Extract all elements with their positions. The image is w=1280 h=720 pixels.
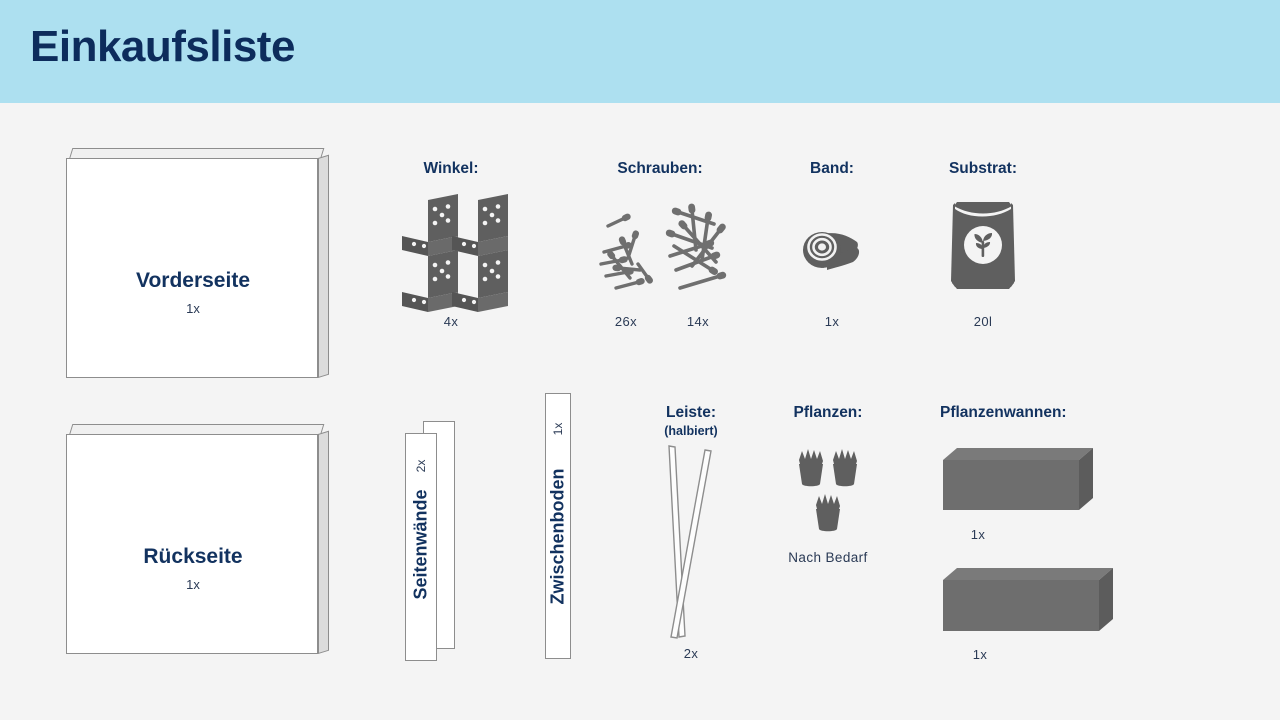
- schrauben-pile-short-illustration: [592, 212, 660, 302]
- group-subtitle-leiste: (halbiert): [631, 424, 751, 438]
- header-band: Einkaufsliste: [0, 0, 1280, 103]
- pflanzenwanne-bottom-illustration: [943, 568, 1115, 636]
- schrauben-pile-long-illustration: [662, 200, 742, 302]
- band-count: 1x: [772, 314, 892, 329]
- pflanzenwanne-tray-top-illustration: [943, 448, 1095, 514]
- group-title-pflanzen: Pflanzen:: [768, 404, 888, 422]
- substrat-bag-illustration: [947, 197, 1019, 295]
- pflanzenwanne-top-count: 1x: [940, 527, 1016, 542]
- band-tape-roll-illustration: [797, 224, 869, 286]
- panel-front-face: Rückseite 1x: [66, 434, 318, 654]
- group-title-pflanzenwannen: Pflanzenwannen:: [940, 404, 1140, 422]
- panel-label: Vorderseite: [67, 269, 319, 293]
- board-label: Zwischenboden: [548, 461, 569, 613]
- schrauben-long-count: 14x: [658, 314, 738, 329]
- group-title-substrat: Substrat:: [923, 160, 1043, 178]
- board-count: 2x: [414, 446, 428, 486]
- pflanzen-illustration: [795, 448, 863, 534]
- page-title: Einkaufsliste: [30, 22, 295, 72]
- leiste-count: 2x: [631, 646, 751, 661]
- group-title-schrauben: Schrauben:: [600, 160, 720, 178]
- panel-label: Rückseite: [67, 545, 319, 569]
- shopping-list-infographic: Einkaufsliste Vorderseite 1x Rückseite 1…: [0, 0, 1280, 720]
- board-count: 1x: [551, 409, 565, 449]
- group-title-leiste: Leiste:: [631, 404, 751, 422]
- panel-count: 1x: [67, 301, 319, 316]
- group-title-band: Band:: [772, 160, 892, 178]
- leiste-strips-illustration: [655, 444, 725, 640]
- pflanzen-count: Nach Bedarf: [758, 550, 898, 565]
- substrat-count: 20l: [923, 314, 1043, 329]
- winkel-brackets-illustration: [400, 192, 515, 307]
- panel-side-edge: [318, 431, 329, 654]
- board-label: Seitenwände: [411, 483, 432, 607]
- winkel-count: 4x: [391, 314, 511, 329]
- schrauben-short-count: 26x: [586, 314, 666, 329]
- panel-front-face: Vorderseite 1x: [66, 158, 318, 378]
- panel-count: 1x: [67, 577, 319, 592]
- pflanzenwanne-bottom-count: 1x: [942, 647, 1018, 662]
- group-title-winkel: Winkel:: [391, 160, 511, 178]
- panel-side-edge: [318, 155, 329, 378]
